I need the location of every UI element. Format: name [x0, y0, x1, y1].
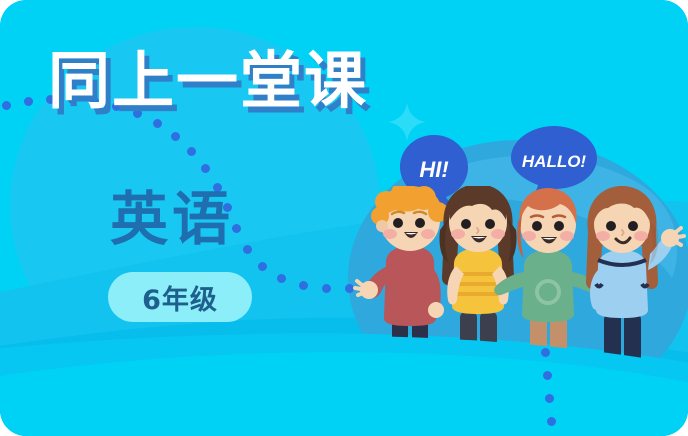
path-dot [187, 147, 196, 156]
page-title: 同上一堂课 [48, 48, 368, 113]
path-dot [547, 417, 556, 426]
path-dot [201, 164, 210, 173]
path-dot [277, 274, 286, 283]
course-cover-card: 同上一堂课 英语 6年级 HI! HALLO! [0, 0, 688, 436]
path-dot [299, 281, 308, 290]
children-illustration [352, 186, 688, 366]
path-dot [243, 245, 252, 254]
path-dot [171, 132, 180, 141]
grade-badge-label: 6年级 [142, 278, 218, 317]
path-dot [541, 348, 550, 357]
character-girl-brown-hair-yellow-shirt [439, 186, 516, 364]
path-dot [258, 262, 267, 271]
path-dot [2, 101, 11, 110]
path-dot [545, 394, 554, 403]
path-dot [322, 284, 331, 293]
path-dot [153, 119, 162, 128]
character-boy-waving-orange-hair [355, 186, 448, 364]
path-dot [543, 371, 552, 380]
character-girl-waving-blue-shirt [586, 186, 684, 364]
path-dot [24, 97, 33, 106]
subject-title: 英语 [110, 190, 234, 248]
grade-badge: 6年级 [108, 272, 252, 322]
